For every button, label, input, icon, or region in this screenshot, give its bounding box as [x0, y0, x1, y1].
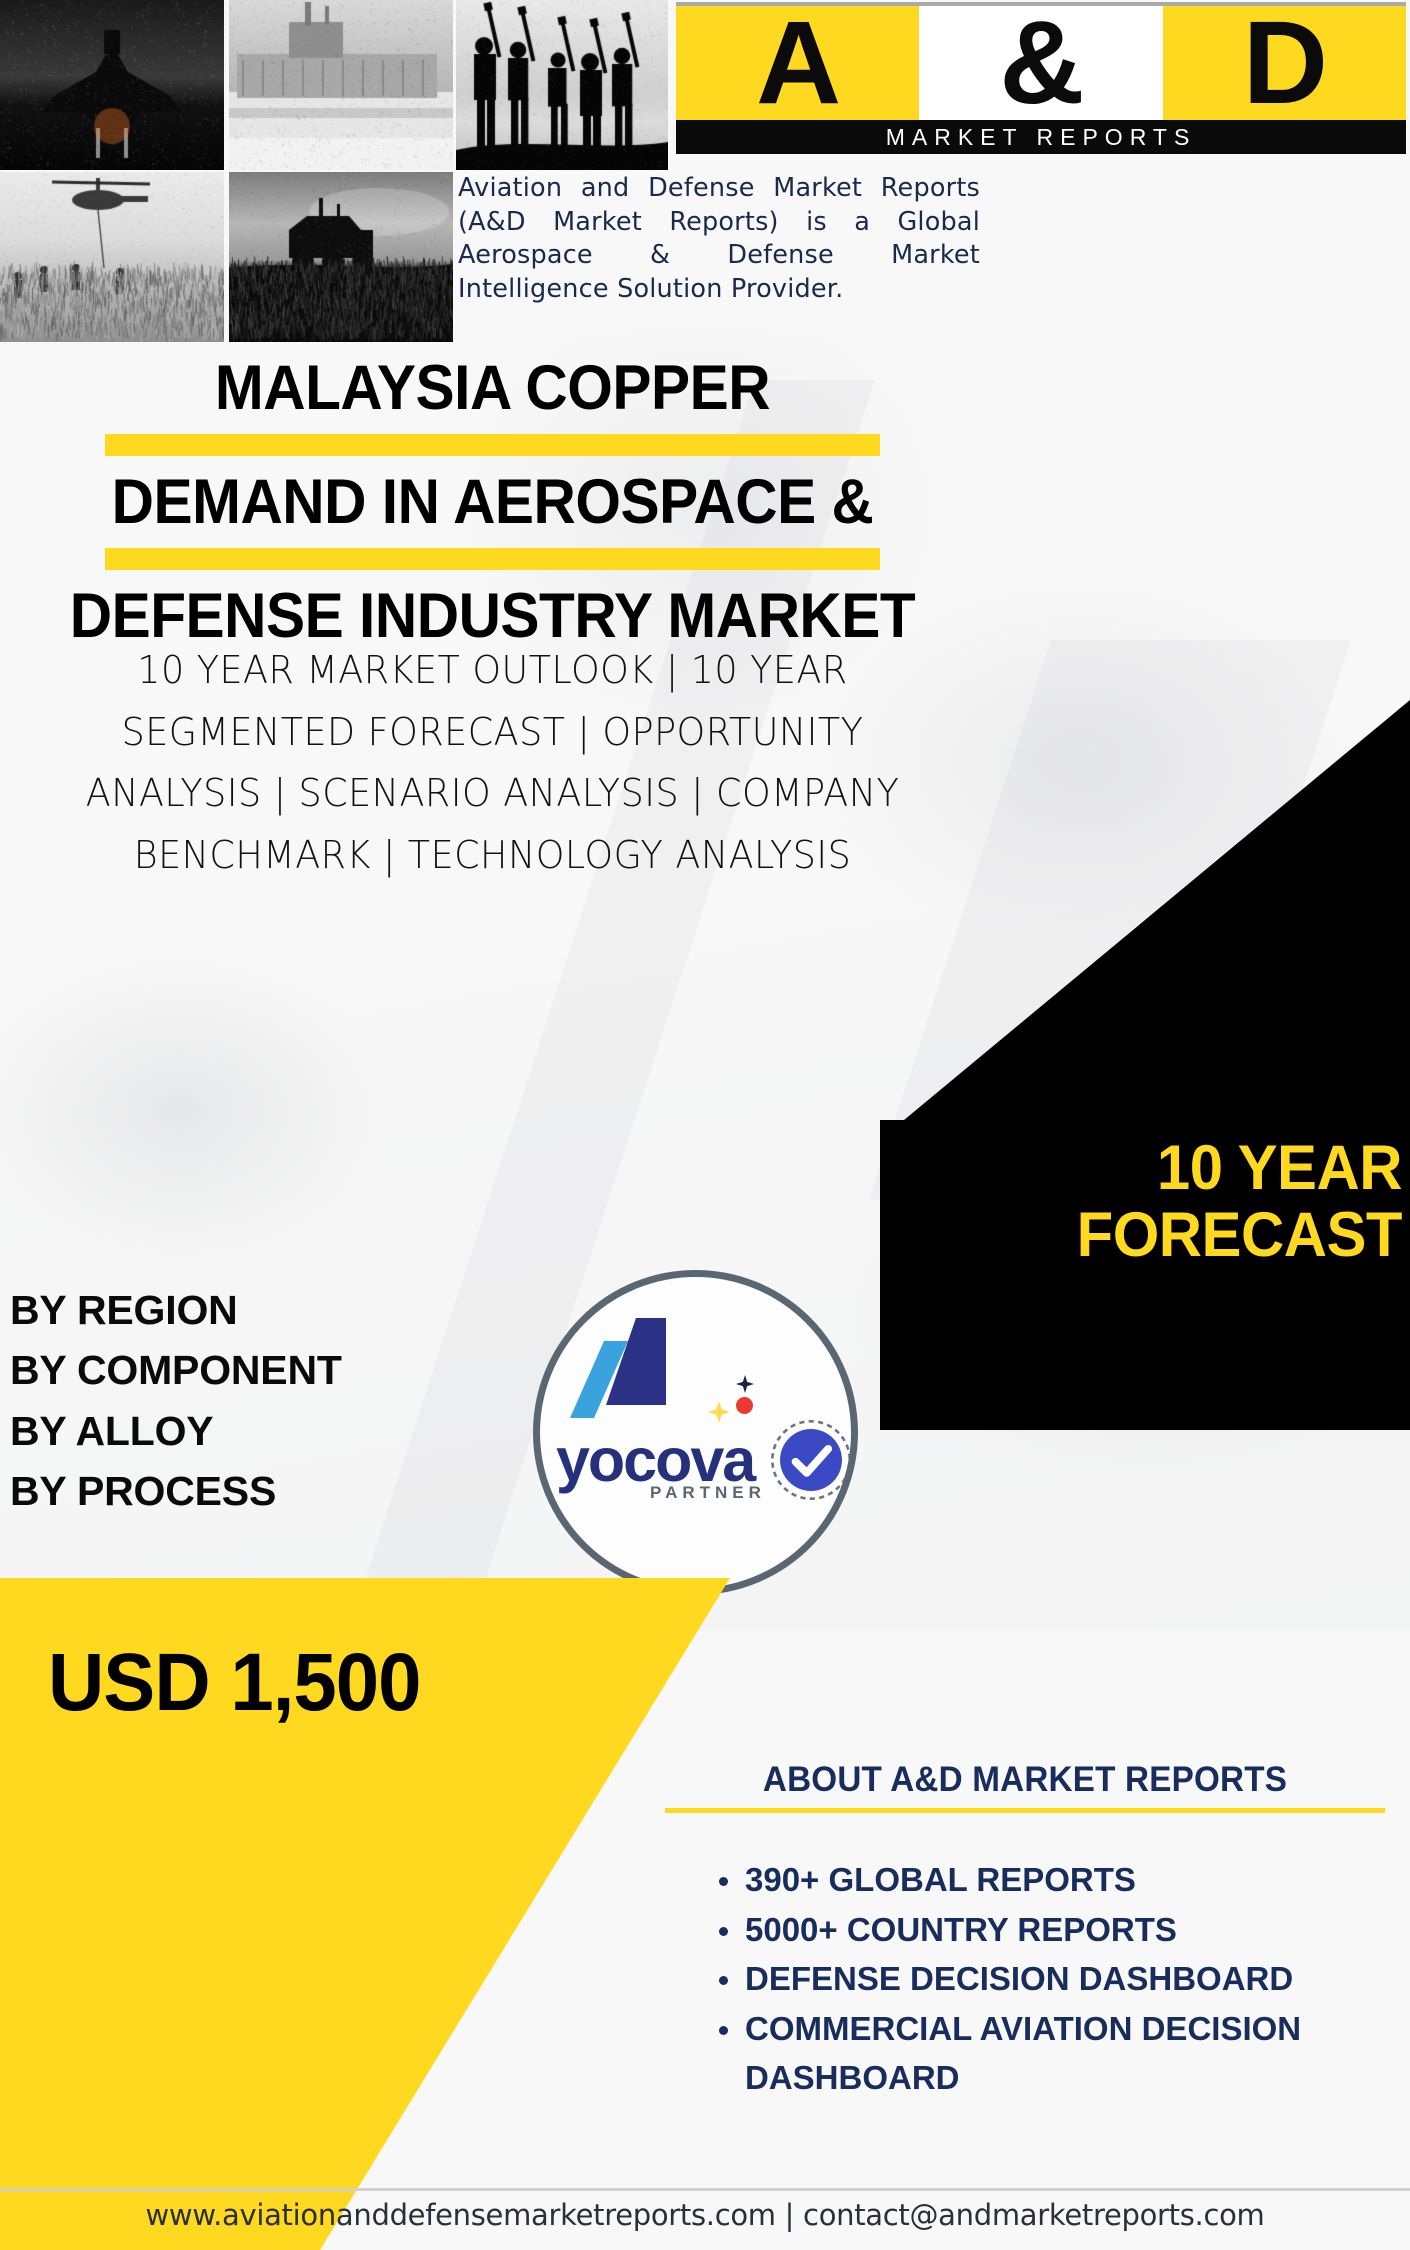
logo-letter-a: A	[756, 4, 839, 122]
logo-subtitle-text: MARKET REPORTS	[886, 124, 1197, 151]
logo-cell-a: A	[676, 6, 919, 120]
segment-by-process: BY PROCESS	[10, 1461, 342, 1521]
logo-letter-row: A & D	[676, 2, 1406, 120]
about-item-global-reports: 390+ GLOBAL REPORTS	[705, 1855, 1405, 1905]
decorative-yellow-spark-icon	[708, 1401, 730, 1423]
yocova-mark-icon	[562, 1313, 682, 1423]
poster-page: A & D MARKET REPORTS Aviation and Defens…	[0, 0, 1410, 2250]
forecast-line-1: 10 YEAR	[908, 1135, 1402, 1202]
soldiers-silhouette-photo	[456, 0, 668, 170]
yocova-partner-badge: yocova PARTNER	[533, 1270, 858, 1595]
footer-divider	[0, 2188, 1410, 2191]
forecast-text: 10 YEAR FORECAST	[908, 1135, 1402, 1269]
title-divider-1	[105, 434, 880, 456]
company-intro-paragraph: Aviation and Defense Market Reports (A&D…	[458, 172, 980, 307]
forecast-line-2: FORECAST	[908, 1202, 1402, 1269]
black-diagonal-wedge	[880, 700, 1410, 1140]
segment-by-component: BY COMPONENT	[10, 1340, 342, 1400]
decorative-navy-spark-icon	[736, 1375, 754, 1393]
armored-vehicle-photo	[229, 172, 453, 342]
ad-market-reports-logo: A & D MARKET REPORTS	[676, 2, 1406, 154]
about-item-commercial-dashboard: COMMERCIAL AVIATION DECISION DASHBOARD	[705, 2004, 1405, 2103]
logo-cell-d: D	[1163, 6, 1406, 120]
segment-by-region: BY REGION	[10, 1280, 342, 1340]
about-heading: ABOUT A&D MARKET REPORTS	[683, 1760, 1367, 1800]
title-line-2: DEMAND IN AEROSPACE &	[34, 469, 950, 535]
footer-contact: www.aviationanddefensemarketreports.com …	[0, 2198, 1410, 2232]
aircraft-carrier-photo	[229, 0, 453, 170]
report-scope-subtitle: 10 YEAR MARKET OUTLOOK | 10 YEAR SEGMENT…	[29, 640, 955, 886]
title-divider-2	[105, 548, 880, 570]
about-item-country-reports: 5000+ COUNTRY REPORTS	[705, 1905, 1405, 1955]
segment-by-alloy: BY ALLOY	[10, 1401, 342, 1461]
logo-letter-ampersand: &	[999, 4, 1082, 122]
price-label: USD 1,500	[48, 1636, 421, 1730]
fighter-jet-photo	[0, 0, 224, 170]
yocova-partner-label: PARTNER	[650, 1483, 766, 1503]
about-bullet-list: 390+ GLOBAL REPORTS 5000+ COUNTRY REPORT…	[705, 1855, 1405, 2103]
logo-cell-ampersand: &	[919, 6, 1162, 120]
title-line-1: MALAYSIA COPPER	[34, 355, 950, 421]
report-title: MALAYSIA COPPER DEMAND IN AEROSPACE & DE…	[0, 355, 985, 649]
logo-letter-d: D	[1243, 4, 1326, 122]
about-heading-underline	[665, 1808, 1385, 1813]
helicopter-rappel-photo	[0, 172, 224, 342]
segmentation-list: BY REGION BY COMPONENT BY ALLOY BY PROCE…	[10, 1280, 342, 1521]
verified-check-icon	[768, 1417, 854, 1503]
about-item-defense-dashboard: DEFENSE DECISION DASHBOARD	[705, 1954, 1405, 2004]
decorative-red-dot	[736, 1397, 753, 1414]
